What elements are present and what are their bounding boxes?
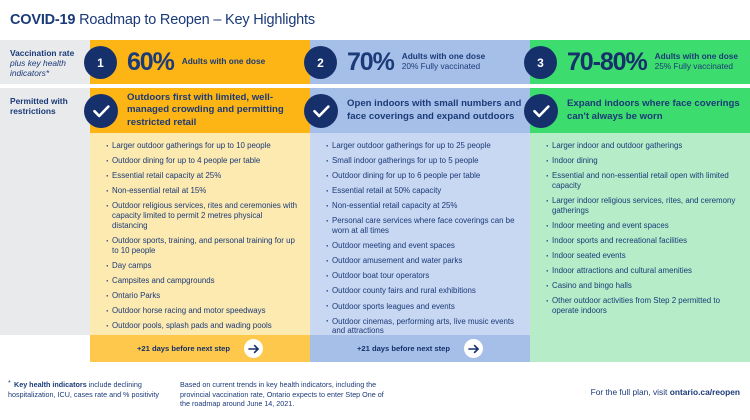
vaccination-rate-label-cell: Vaccination rate plus key health indicat… [0,40,90,84]
list-item: Outdoor boat tour operators [326,271,520,281]
next-step-row: +21 days before next step +21 days befor… [0,335,750,362]
vaccination-rate-row: Vaccination rate plus key health indicat… [0,40,750,84]
list-item: Outdoor cinemas, performing arts, live m… [326,317,520,335]
list-item: Personal care services where face coveri… [326,216,520,236]
bullet-lists-row: Larger outdoor gatherings for up to 10 p… [0,133,750,335]
step-3-bullet-list: Larger indoor and outdoor gatheringsIndo… [546,141,740,316]
list-item: Larger indoor and outdoor gatherings [546,141,740,151]
step-2-check-icon [304,94,338,128]
step-2-next-step-text: +21 days before next step [357,344,450,353]
footnote-key-health-indicators: * Key health indicators include declinin… [8,380,183,399]
footnote-star: * [8,379,11,388]
list-item: Outdoor sports leagues and events [326,302,520,312]
list-item: Ontario Parks [106,291,300,301]
list-item: Outdoor dining for up to 6 people per ta… [326,171,520,181]
footnote-a-bold: Key health indicators [14,380,87,389]
permitted-label-cell: Permitted with restrictions [0,88,90,133]
step-1-vaccination-text: 60% Adults with one dose [127,40,265,84]
step-3-percent: 70-80% [567,50,647,75]
list-item: Indoor dining [546,156,740,166]
step-1-list-column: Larger outdoor gatherings for up to 10 p… [90,133,310,335]
list-row-label-spacer [0,133,90,335]
step-1-headline: Outdoors first with limited, well-manage… [127,88,305,133]
page-title-rest: Roadmap to Reopen – Key Highlights [75,12,315,28]
footnote-timing: Based on current trends in key health in… [180,380,390,409]
list-item: Essential and non-essential retail open … [546,171,740,191]
step-2-list-column: Larger outdoor gatherings for up to 25 p… [310,133,530,335]
step-2-vaccination-text: 70% Adults with one dose 20% Fully vacci… [347,40,485,84]
list-item: Outdoor horse racing and motor speedways [106,306,300,316]
step-1-next-step-bar[interactable]: +21 days before next step [90,335,310,362]
full-plan-prefix: For the full plan, visit [591,387,670,397]
list-item: Indoor attractions and cultural amenitie… [546,266,740,276]
page-title: COVID-19 Roadmap to Reopen – Key Highlig… [10,12,315,28]
full-plan-link-line: For the full plan, visit ontario.ca/reop… [591,387,740,397]
step-3-fully-line: 25% Fully vaccinated [655,62,738,72]
next-step-label-spacer [0,335,90,362]
list-item: Other outdoor activities from Step 2 per… [546,296,740,316]
list-item: Indoor sports and recreational facilitie… [546,236,740,246]
step-1-dose-line: Adults with one dose [182,57,265,67]
step-1-number-badge: 1 [84,46,117,79]
list-item: Non-essential retail at 15% [106,186,300,196]
list-item: Casino and bingo halls [546,281,740,291]
step-1-check-icon [84,94,118,128]
step-3-vaccination-text: 70-80% Adults with one dose 25% Fully va… [567,40,738,84]
permitted-label-line-2: restrictions [10,107,88,117]
vaccination-rate-sublabel-2: indicators* [10,69,88,79]
list-item: Outdoor county fairs and rural exhibitio… [326,286,520,296]
step-2-bullet-list: Larger outdoor gatherings for up to 25 p… [326,141,520,335]
list-item: Non-essential retail capacity at 25% [326,201,520,211]
step-2-headline: Open indoors with small numbers and face… [347,88,525,133]
arrow-right-icon[interactable] [244,339,263,358]
step-3-check-icon [524,94,558,128]
list-item: Larger outdoor gatherings for up to 10 p… [106,141,300,151]
list-item: Outdoor meeting and event spaces [326,241,520,251]
list-item: Indoor meeting and event spaces [546,221,740,231]
list-item: Small indoor gatherings for up to 5 peop… [326,156,520,166]
step-2-fully-line: 20% Fully vaccinated [402,62,485,72]
list-item: Day camps [106,261,300,271]
list-item: Outdoor dining for up to 4 people per ta… [106,156,300,166]
step-1-bullet-list: Larger outdoor gatherings for up to 10 p… [106,141,300,331]
full-plan-link[interactable]: ontario.ca/reopen [670,387,740,397]
list-item: Outdoor amusement and water parks [326,256,520,266]
step-3-headline: Expand indoors where face coverings can'… [567,88,747,133]
list-item: Campsites and campgrounds [106,276,300,286]
arrow-right-icon[interactable] [464,339,483,358]
list-item: Essential retail capacity at 25% [106,171,300,181]
list-item: Essential retail at 50% capacity [326,186,520,196]
step-1-next-step-text: +21 days before next step [137,344,230,353]
list-item: Outdoor pools, splash pads and wading po… [106,321,300,331]
step-2-number-badge: 2 [304,46,337,79]
step-1-percent: 60% [127,50,174,75]
list-item: Larger outdoor gatherings for up to 25 p… [326,141,520,151]
permitted-row: Permitted with restrictions Outdoors fir… [0,88,750,133]
infographic-page: COVID-19 Roadmap to Reopen – Key Highlig… [0,0,750,420]
list-item: Indoor seated events [546,251,740,261]
step-3-list-column: Larger indoor and outdoor gatheringsIndo… [530,133,750,335]
footnotes: * Key health indicators include declinin… [0,372,750,420]
list-item: Outdoor sports, training, and personal t… [106,236,300,256]
step-3-number-badge: 3 [524,46,557,79]
page-title-brand: COVID-19 [10,12,75,28]
step-2-next-step-bar[interactable]: +21 days before next step [310,335,530,362]
list-item: Outdoor religious services, rites and ce… [106,201,300,231]
step-2-percent: 70% [347,50,394,75]
step-3-next-step-bar [530,335,750,362]
list-item: Larger indoor religious services, rites,… [546,196,740,216]
